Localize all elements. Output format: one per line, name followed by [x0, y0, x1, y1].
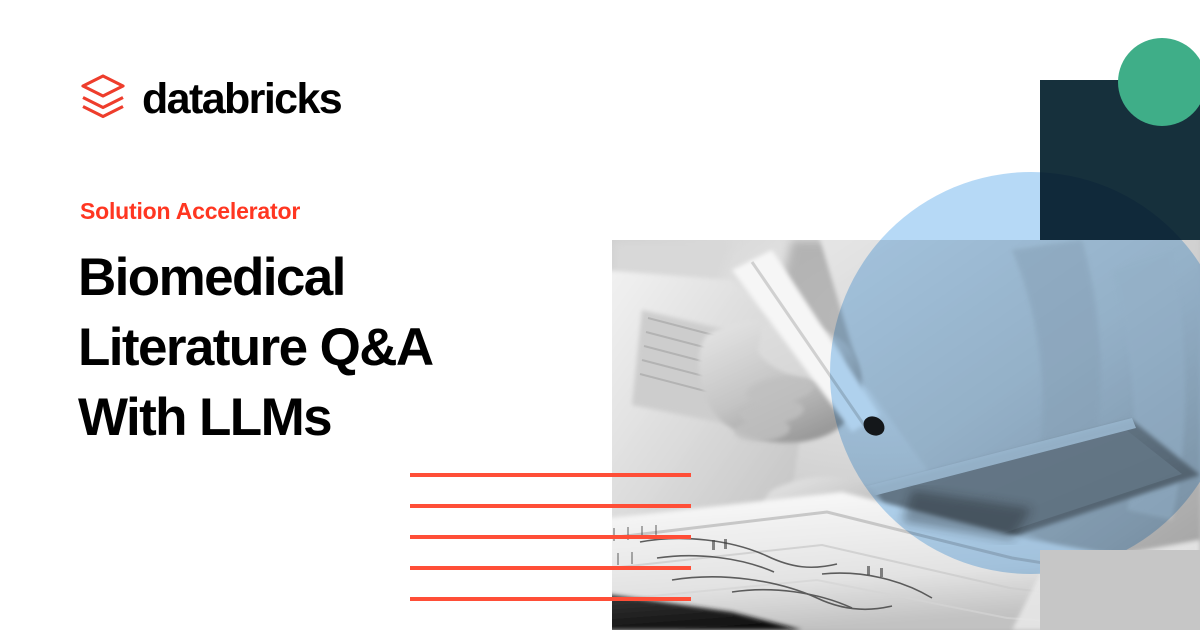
hero-banner: databricks Solution Accelerator Biomedic…: [0, 0, 1200, 630]
headline-line: With LLMs: [78, 383, 598, 453]
red-rule: [410, 597, 691, 601]
eyebrow-label: Solution Accelerator: [80, 198, 300, 226]
green-circle-decoration: [1118, 38, 1200, 126]
red-rule: [410, 566, 691, 570]
headline-line: Biomedical: [78, 243, 598, 313]
red-rule: [410, 473, 691, 477]
red-rule: [410, 504, 691, 508]
databricks-logo[interactable]: databricks: [80, 72, 341, 126]
databricks-stacked-layers-icon: [80, 72, 126, 126]
gray-rectangle-decoration: [1040, 550, 1200, 630]
databricks-wordmark: databricks: [142, 78, 341, 121]
page-title: Biomedical Literature Q&A With LLMs: [78, 243, 598, 453]
red-rule: [410, 535, 691, 539]
headline-line: Literature Q&A: [78, 313, 598, 383]
